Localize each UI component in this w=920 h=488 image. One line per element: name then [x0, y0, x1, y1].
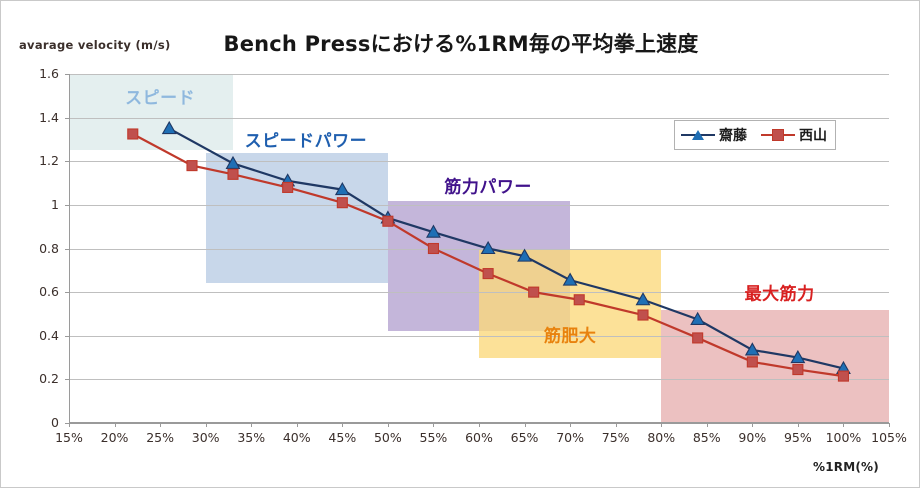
zone-label: 最大筋力	[745, 280, 815, 305]
x-tick-mark	[525, 423, 526, 427]
x-tick-mark	[798, 423, 799, 427]
y-tick-label: 1	[0, 197, 59, 212]
data-point-marker	[574, 295, 584, 305]
data-point-marker	[283, 182, 293, 192]
data-point-marker	[638, 310, 648, 320]
data-point-marker	[163, 122, 176, 134]
series-line	[169, 129, 843, 369]
data-point-marker	[128, 129, 138, 139]
data-point-marker	[228, 169, 238, 179]
x-tick-mark	[206, 423, 207, 427]
y-tick-label: 0.2	[0, 371, 59, 386]
x-tick-mark	[479, 423, 480, 427]
zone-label: 筋力パワー	[444, 173, 532, 198]
chart-title: Bench Pressにおける%1RM毎の平均拳上速度	[1, 28, 920, 58]
x-tick-mark	[251, 423, 252, 427]
legend-square-icon	[761, 129, 795, 141]
data-point-marker	[383, 216, 393, 226]
legend-label: 齋藤	[719, 125, 747, 145]
x-tick-mark	[570, 423, 571, 427]
data-point-marker	[838, 371, 848, 381]
x-tick-mark	[616, 423, 617, 427]
zone-label: スピードパワー	[245, 127, 368, 152]
y-tick-label: 0.4	[0, 328, 59, 343]
x-tick-mark	[160, 423, 161, 427]
x-tick-mark	[707, 423, 708, 427]
chart-frame: avarage velocity (m/s) Bench Pressにおける%1…	[0, 0, 920, 488]
x-tick-mark	[69, 423, 70, 427]
chart-legend[interactable]: 齋藤西山	[674, 120, 836, 150]
x-tick-mark	[433, 423, 434, 427]
data-point-marker	[564, 274, 577, 286]
data-point-marker	[428, 244, 438, 254]
legend-label: 西山	[799, 125, 827, 145]
zone-label: スピード	[125, 83, 195, 108]
y-tick-label: 0.8	[0, 241, 59, 256]
y-tick-label: 1.6	[0, 66, 59, 81]
legend-item[interactable]: 西山	[761, 125, 827, 145]
x-tick-mark	[843, 423, 844, 427]
zone-label: 筋肥大	[544, 321, 597, 346]
x-tick-mark	[752, 423, 753, 427]
x-tick-mark	[297, 423, 298, 427]
data-point-marker	[747, 357, 757, 367]
y-tick-label: 1.2	[0, 153, 59, 168]
x-tick-mark	[115, 423, 116, 427]
x-tick-mark	[661, 423, 662, 427]
data-point-marker	[337, 198, 347, 208]
data-point-marker	[187, 161, 197, 171]
y-tick-label: 0.6	[0, 284, 59, 299]
y-tick-label: 1.4	[0, 110, 59, 125]
data-point-marker	[793, 365, 803, 375]
x-tick-label: 105%	[859, 430, 919, 445]
data-point-marker	[227, 157, 240, 169]
x-tick-mark	[342, 423, 343, 427]
data-point-marker	[483, 269, 493, 279]
series-line	[133, 134, 844, 376]
x-tick-mark	[388, 423, 389, 427]
data-point-marker	[746, 343, 759, 355]
x-axis-title: %1RM(%)	[813, 460, 879, 474]
data-point-marker	[529, 287, 539, 297]
legend-item[interactable]: 齋藤	[681, 125, 747, 145]
data-point-marker	[693, 333, 703, 343]
x-tick-mark	[889, 423, 890, 427]
y-tick-label: 0	[0, 415, 59, 430]
legend-triangle-icon	[681, 129, 715, 141]
